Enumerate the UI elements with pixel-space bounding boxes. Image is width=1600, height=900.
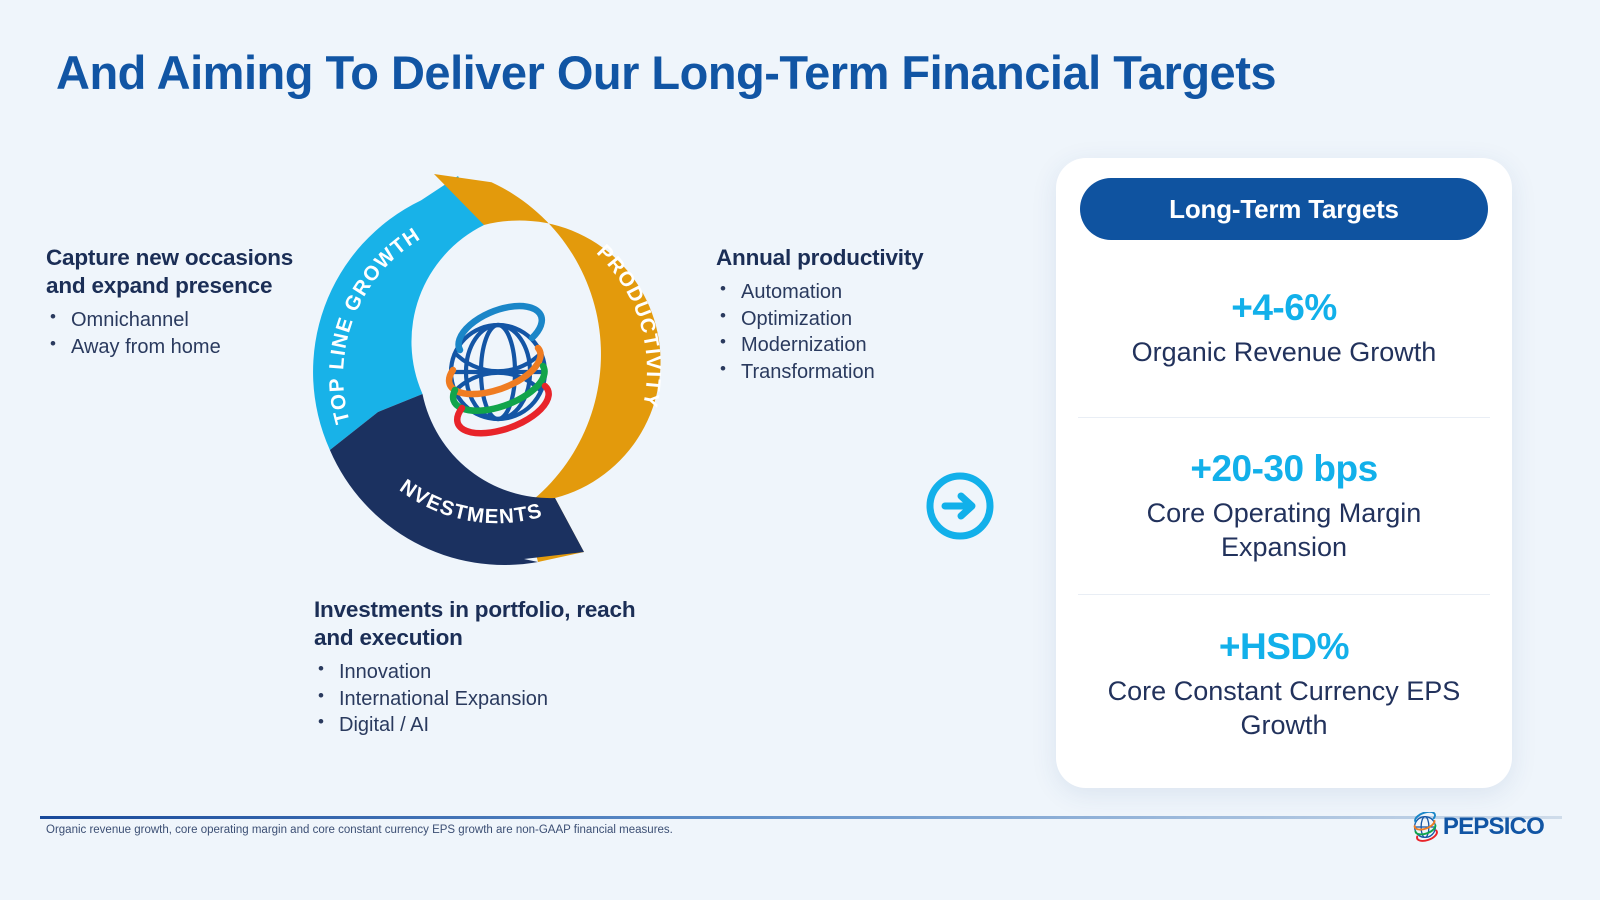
list-item: Transformation [716,359,1016,386]
list-item: Modernization [716,332,1016,359]
target-label: Organic Revenue Growth [1132,335,1437,369]
block-heading: Investments in portfolio, reach and exec… [314,596,644,652]
list-item: Away from home [46,334,296,361]
target-row: +4-6% Organic Revenue Growth [1078,240,1490,417]
targets-pill-header: Long-Term Targets [1080,178,1488,240]
list-item: Omnichannel [46,307,296,334]
target-value: +4-6% [1231,287,1336,329]
pepsico-globe-icon [1412,812,1438,842]
pepsico-wordmark: PEPSICO [1443,813,1544,841]
text-block-productivity: Annual productivity Automation Optimizat… [716,244,1016,386]
footer-divider [40,816,1562,819]
page-title: And Aiming To Deliver Our Long-Term Fina… [56,45,1276,100]
target-label: Core Constant Currency EPS Growth [1088,674,1480,742]
list-item: Automation [716,279,1016,306]
block-heading: Annual productivity [716,244,1016,272]
text-block-top-line-growth: Capture new occasions and expand presenc… [46,244,296,360]
target-row: +20-30 bps Core Operating Margin Expansi… [1078,417,1490,595]
block-bullet-list: Omnichannel Away from home [46,307,296,361]
slide: And Aiming To Deliver Our Long-Term Fina… [0,0,1600,900]
list-item: Innovation [314,659,644,686]
list-item: International Expansion [314,686,644,713]
target-row: +HSD% Core Constant Currency EPS Growth [1078,594,1490,772]
text-block-investments: Investments in portfolio, reach and exec… [314,596,644,739]
target-value: +20-30 bps [1190,448,1377,490]
list-item: Optimization [716,306,1016,333]
footnote-text: Organic revenue growth, core operating m… [46,822,946,839]
block-bullet-list: Innovation International Expansion Digit… [314,659,644,739]
long-term-targets-card: Long-Term Targets +4-6% Organic Revenue … [1056,158,1512,788]
block-heading: Capture new occasions and expand presenc… [46,244,296,300]
cycle-diagram: TOP LINE GROWTH PRODUCTIVITY INVESTMENTS [288,162,708,582]
globe-icon [449,306,549,433]
pepsico-logo: PEPSICO [1412,812,1544,842]
block-bullet-list: Automation Optimization Modernization Tr… [716,279,1016,386]
target-label: Core Operating Margin Expansion [1088,496,1480,564]
arrow-right-circle-icon [924,470,996,542]
list-item: Digital / AI [314,712,644,739]
target-value: +HSD% [1219,626,1349,668]
